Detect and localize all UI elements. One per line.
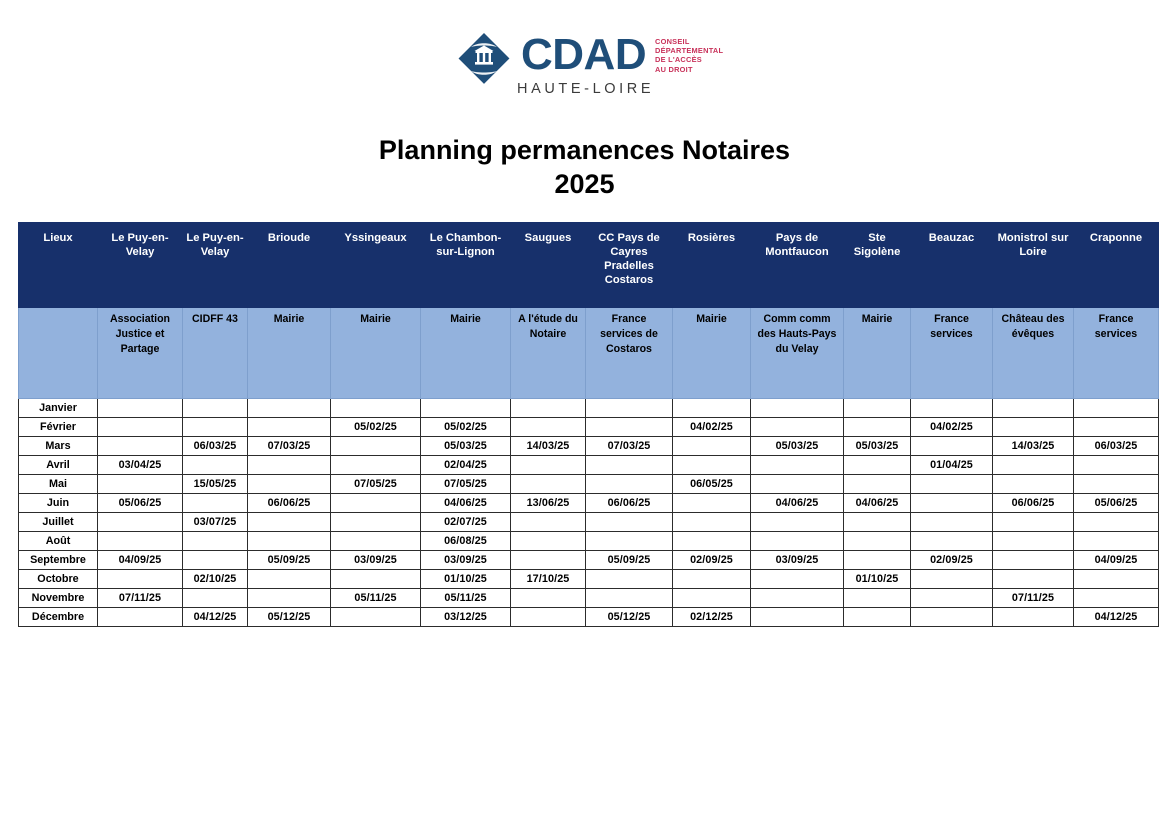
permanence-date-cell: 04/09/25 [98,551,183,570]
permanence-date-cell [911,399,993,418]
permanence-date-cell: 06/06/25 [586,494,673,513]
permanence-date-cell [911,475,993,494]
permanence-date-cell [511,589,586,608]
column-header-town-brioude-3: Brioude [248,223,331,308]
column-header-venue-chateau-des-eveques-12: Château des évêques [993,308,1074,399]
permanence-date-cell: 03/09/25 [421,551,511,570]
permanence-date-cell [993,532,1074,551]
table-row: Janvier [19,399,1159,418]
cdad-department-name: HAUTE-LOIRE [517,81,654,97]
permanence-date-cell [98,513,183,532]
permanence-date-cell [844,456,911,475]
month-label-juin: Juin [19,494,98,513]
permanence-date-cell [183,456,248,475]
permanence-date-cell [511,608,586,627]
permanence-date-cell: 04/02/25 [911,418,993,437]
permanence-date-cell: 04/06/25 [421,494,511,513]
permanence-date-cell [511,551,586,570]
permanence-date-cell [511,475,586,494]
permanence-date-cell [1074,513,1159,532]
permanence-date-cell: 05/11/25 [331,589,421,608]
column-header-town-label: Craponne [1076,226,1156,245]
permanence-date-cell [911,437,993,456]
permanence-date-cell [183,532,248,551]
permanence-date-cell: 07/03/25 [586,437,673,456]
permanence-date-cell [1074,399,1159,418]
column-header-town-label: Ste Sigolène [846,226,908,259]
month-label-fevrier: Février [19,418,98,437]
permanence-date-cell [993,513,1074,532]
permanence-date-cell [911,494,993,513]
permanence-date-cell [331,570,421,589]
permanence-date-cell [911,589,993,608]
header-row-towns: LieuxLe Puy-en-VelayLe Puy-en-VelayBriou… [19,223,1159,308]
permanence-date-cell [331,494,421,513]
permanence-date-cell [751,608,844,627]
permanence-date-cell: 04/02/25 [673,418,751,437]
column-header-venue-blank-0 [19,308,98,399]
table-row: Mars06/03/2507/03/2505/03/2514/03/2507/0… [19,437,1159,456]
column-header-town-le-puy-en-velay-1: Le Puy-en-Velay [98,223,183,308]
month-label-avril: Avril [19,456,98,475]
permanence-date-cell [911,532,993,551]
planning-table-container: LieuxLe Puy-en-VelayLe Puy-en-VelayBriou… [18,222,1158,627]
column-header-venue-france-services-11: France services [911,308,993,399]
permanence-date-cell [98,570,183,589]
column-header-town-beauzac-11: Beauzac [911,223,993,308]
column-header-town-label: Beauzac [913,226,990,245]
permanence-date-cell: 02/10/25 [183,570,248,589]
permanence-date-cell: 05/12/25 [586,608,673,627]
permanence-date-cell: 03/07/25 [183,513,248,532]
permanence-date-cell [844,399,911,418]
permanence-date-cell [1074,532,1159,551]
month-label-decembre: Décembre [19,608,98,627]
column-header-town-rosieres-8: Rosières [673,223,751,308]
permanence-date-cell [98,437,183,456]
column-header-venue-cidff-43-2: CIDFF 43 [183,308,248,399]
permanence-date-cell [511,513,586,532]
permanence-date-cell [248,532,331,551]
permanence-date-cell [586,532,673,551]
permanence-date-cell: 06/03/25 [1074,437,1159,456]
month-label-mars: Mars [19,437,98,456]
table-row: Décembre04/12/2505/12/2503/12/2505/12/25… [19,608,1159,627]
permanence-date-cell: 05/06/25 [1074,494,1159,513]
permanence-date-cell: 03/04/25 [98,456,183,475]
permanence-date-cell [993,456,1074,475]
permanence-date-cell [98,608,183,627]
permanence-date-cell [586,589,673,608]
permanence-date-cell [421,399,511,418]
permanence-date-cell [183,551,248,570]
planning-table: LieuxLe Puy-en-VelayLe Puy-en-VelayBriou… [18,222,1159,627]
table-row: Avril03/04/2502/04/2501/04/25 [19,456,1159,475]
permanence-date-cell: 02/12/25 [673,608,751,627]
column-header-town-label: Le Puy-en-Velay [185,226,245,259]
permanence-date-cell: 07/05/25 [421,475,511,494]
table-row: Mai15/05/2507/05/2507/05/2506/05/25 [19,475,1159,494]
permanence-date-cell [1074,418,1159,437]
permanence-date-cell: 06/08/25 [421,532,511,551]
permanence-date-cell: 04/12/25 [1074,608,1159,627]
column-header-town-le-chambon-sur-lignon-5: Le Chambon-sur-Lignon [421,223,511,308]
permanence-date-cell: 04/06/25 [844,494,911,513]
permanence-date-cell [844,532,911,551]
permanence-date-cell [183,494,248,513]
permanence-date-cell [331,399,421,418]
cdad-tagline-line-2: DÉPARTEMENTAL [655,46,723,55]
permanence-date-cell: 14/03/25 [511,437,586,456]
column-header-town-label: Le Chambon-sur-Lignon [423,226,508,259]
permanence-date-cell [673,570,751,589]
permanence-date-cell [183,399,248,418]
page-title: Planning permanences Notaires 2025 [0,133,1169,201]
permanence-date-cell [844,551,911,570]
page-title-line-2: 2025 [0,167,1169,201]
permanence-date-cell [248,570,331,589]
permanence-date-cell: 02/07/25 [421,513,511,532]
permanence-date-cell [844,589,911,608]
column-header-town-label: Brioude [250,226,328,245]
page-title-line-1: Planning permanences Notaires [379,135,790,165]
permanence-date-cell: 03/12/25 [421,608,511,627]
permanence-date-cell [586,513,673,532]
table-row: Octobre02/10/2501/10/2517/10/2501/10/25 [19,570,1159,589]
column-header-venue-association-justice-et-partage-1: Association Justice et Partage [98,308,183,399]
permanence-date-cell: 02/04/25 [421,456,511,475]
permanence-date-cell [586,399,673,418]
permanence-date-cell [751,399,844,418]
permanence-date-cell [751,456,844,475]
permanence-date-cell [183,418,248,437]
permanence-date-cell [331,608,421,627]
permanence-date-cell [751,418,844,437]
permanence-date-cell: 13/06/25 [511,494,586,513]
permanence-date-cell: 05/02/25 [421,418,511,437]
permanence-date-cell: 17/10/25 [511,570,586,589]
permanence-date-cell: 06/05/25 [673,475,751,494]
permanence-date-cell: 14/03/25 [993,437,1074,456]
permanence-date-cell [844,418,911,437]
permanence-date-cell [511,532,586,551]
cdad-tagline: CONSEIL DÉPARTEMENTAL DE L'ACCÈS AU DROI… [655,37,723,74]
permanence-date-cell [331,437,421,456]
column-header-town-yssingeaux-4: Yssingeaux [331,223,421,308]
permanence-date-cell [911,570,993,589]
permanence-date-cell [751,589,844,608]
header-row-venues: Association Justice et PartageCIDFF 43Ma… [19,308,1159,399]
table-row: Août06/08/25 [19,532,1159,551]
column-header-town-ste-sigolene-10: Ste Sigolène [844,223,911,308]
column-header-venue-france-services-13: France services [1074,308,1159,399]
table-row: Février05/02/2505/02/2504/02/2504/02/25 [19,418,1159,437]
column-header-venue-france-services-de-costaros-7: France services de Costaros [586,308,673,399]
column-header-town-label: Monistrol sur Loire [995,226,1071,259]
permanence-date-cell [673,513,751,532]
column-header-town-label: Lieux [21,226,95,245]
permanence-date-cell [248,418,331,437]
column-header-venue-comm-comm-des-hauts-pays-du-velay-9: Comm comm des Hauts-Pays du Velay [751,308,844,399]
permanence-date-cell: 05/03/25 [844,437,911,456]
column-header-town-cc-pays-de-cayres-pradelles-costaros-7: CC Pays de Cayres Pradelles Costaros [586,223,673,308]
permanence-date-cell: 01/10/25 [421,570,511,589]
permanence-date-cell: 05/09/25 [248,551,331,570]
permanence-date-cell [911,608,993,627]
table-row: Septembre04/09/2505/09/2503/09/2503/09/2… [19,551,1159,570]
column-header-venue-mairie-10: Mairie [844,308,911,399]
permanence-date-cell: 07/11/25 [993,589,1074,608]
permanence-date-cell [331,456,421,475]
permanence-date-cell [911,513,993,532]
permanence-date-cell: 05/02/25 [331,418,421,437]
month-label-aout: Août [19,532,98,551]
column-header-town-label: Pays de Montfaucon [753,226,841,259]
column-header-venue-a-l-etude-du-notaire-6: A l'étude du Notaire [511,308,586,399]
column-header-venue-mairie-4: Mairie [331,308,421,399]
planning-table-body: JanvierFévrier05/02/2505/02/2504/02/2504… [19,399,1159,627]
permanence-date-cell [248,513,331,532]
permanence-date-cell: 06/03/25 [183,437,248,456]
permanence-date-cell [1074,570,1159,589]
month-label-octobre: Octobre [19,570,98,589]
permanence-date-cell [586,475,673,494]
permanence-date-cell [586,456,673,475]
cdad-wordmark: CDAD [521,32,646,78]
permanence-date-cell: 07/03/25 [248,437,331,456]
permanence-date-cell [248,456,331,475]
column-header-town-label: CC Pays de Cayres Pradelles Costaros [588,226,670,287]
permanence-date-cell [673,494,751,513]
column-header-town-label: Le Puy-en-Velay [100,226,180,259]
permanence-date-cell [844,513,911,532]
permanence-date-cell: 07/05/25 [331,475,421,494]
month-label-novembre: Novembre [19,589,98,608]
permanence-date-cell [751,475,844,494]
column-header-town-label: Rosières [675,226,748,245]
column-header-venue-mairie-5: Mairie [421,308,511,399]
permanence-date-cell: 03/09/25 [331,551,421,570]
column-header-town-saugues-6: Saugues [511,223,586,308]
cdad-tagline-line-3: DE L'ACCÈS [655,55,723,64]
permanence-date-cell: 05/11/25 [421,589,511,608]
column-header-venue-mairie-3: Mairie [248,308,331,399]
permanence-date-cell [673,399,751,418]
permanence-date-cell: 06/06/25 [993,494,1074,513]
permanence-date-cell [1074,589,1159,608]
permanence-date-cell [98,532,183,551]
permanence-date-cell [751,570,844,589]
permanence-date-cell [98,399,183,418]
permanence-date-cell: 06/06/25 [248,494,331,513]
permanence-date-cell [844,475,911,494]
permanence-date-cell: 01/04/25 [911,456,993,475]
permanence-date-cell: 15/05/25 [183,475,248,494]
permanence-date-cell [248,399,331,418]
permanence-date-cell: 02/09/25 [673,551,751,570]
permanence-date-cell: 04/06/25 [751,494,844,513]
permanence-date-cell [511,418,586,437]
permanence-date-cell [331,513,421,532]
permanence-date-cell [673,456,751,475]
permanence-date-cell [844,608,911,627]
permanence-date-cell: 05/03/25 [421,437,511,456]
permanence-date-cell [511,399,586,418]
month-label-septembre: Septembre [19,551,98,570]
permanence-date-cell [1074,456,1159,475]
column-header-town-pays-de-montfaucon-9: Pays de Montfaucon [751,223,844,308]
table-row: Juin05/06/2506/06/2504/06/2513/06/2506/0… [19,494,1159,513]
permanence-date-cell: 02/09/25 [911,551,993,570]
permanence-date-cell [511,456,586,475]
permanence-date-cell: 04/09/25 [1074,551,1159,570]
table-row: Juillet03/07/2502/07/25 [19,513,1159,532]
cdad-tagline-line-1: CONSEIL [655,37,723,46]
permanence-date-cell [993,418,1074,437]
permanence-date-cell: 05/12/25 [248,608,331,627]
month-label-janvier: Janvier [19,399,98,418]
column-header-town-lieux-0: Lieux [19,223,98,308]
permanence-date-cell [183,589,248,608]
permanence-date-cell [98,475,183,494]
permanence-date-cell [673,532,751,551]
permanence-date-cell [751,532,844,551]
column-header-town-craponne-13: Craponne [1074,223,1159,308]
permanence-date-cell [993,475,1074,494]
permanence-date-cell: 05/03/25 [751,437,844,456]
permanence-date-cell [673,437,751,456]
table-row: Novembre07/11/2505/11/2505/11/2507/11/25 [19,589,1159,608]
permanence-date-cell [993,551,1074,570]
permanence-date-cell [248,589,331,608]
cdad-diamond-logo [457,32,511,86]
permanence-date-cell: 01/10/25 [844,570,911,589]
month-label-juillet: Juillet [19,513,98,532]
column-header-venue-mairie-8: Mairie [673,308,751,399]
permanence-date-cell [993,399,1074,418]
permanence-date-cell [993,608,1074,627]
permanence-date-cell [586,570,673,589]
cdad-tagline-line-4: AU DROIT [655,65,723,74]
column-header-town-le-puy-en-velay-2: Le Puy-en-Velay [183,223,248,308]
permanence-date-cell [586,418,673,437]
permanence-date-cell [98,418,183,437]
permanence-date-cell: 04/12/25 [183,608,248,627]
column-header-town-label: Yssingeaux [333,226,418,245]
permanence-date-cell: 05/09/25 [586,551,673,570]
permanence-date-cell [993,570,1074,589]
column-header-town-monistrol-sur-loire-12: Monistrol sur Loire [993,223,1074,308]
permanence-date-cell [1074,475,1159,494]
cdad-logo: CDAD CONSEIL DÉPARTEMENTAL DE L'ACCÈS AU… [455,26,745,106]
permanence-date-cell: 07/11/25 [98,589,183,608]
column-header-town-label: Saugues [513,226,583,245]
planning-table-head: LieuxLe Puy-en-VelayLe Puy-en-VelayBriou… [19,223,1159,399]
permanence-date-cell [751,513,844,532]
permanence-date-cell [248,475,331,494]
permanence-date-cell [331,532,421,551]
permanence-date-cell: 05/06/25 [98,494,183,513]
permanence-date-cell: 03/09/25 [751,551,844,570]
permanence-date-cell [673,589,751,608]
month-label-mai: Mai [19,475,98,494]
document-page: CDAD CONSEIL DÉPARTEMENTAL DE L'ACCÈS AU… [0,0,1169,827]
